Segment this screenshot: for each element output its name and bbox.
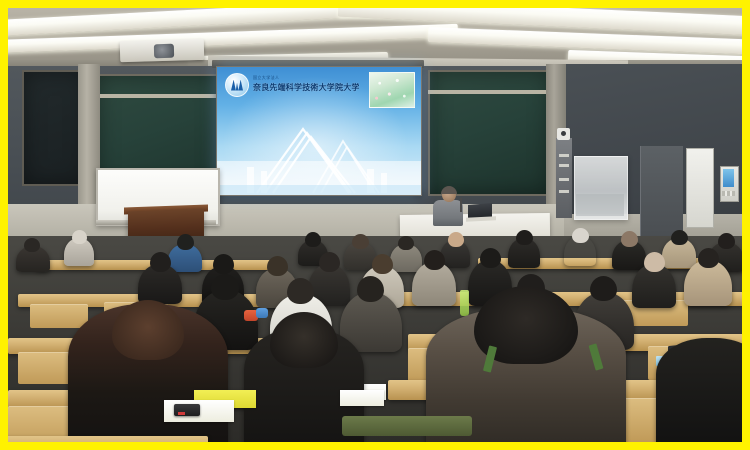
desk-microphone (460, 198, 462, 212)
attendee-back-10-head (621, 231, 638, 247)
seated-presenter-body (433, 200, 463, 226)
attendee-upper-2-head (213, 254, 234, 274)
attendee-middle-5-head (590, 276, 617, 301)
flower-dots (370, 73, 414, 107)
attendee-middle-2-head (287, 278, 314, 304)
attendee-upper-1-head (150, 252, 171, 272)
chair-back-olive (342, 416, 472, 436)
desk-panel-u1 (30, 304, 88, 328)
attendee-upper-8-head (698, 248, 719, 268)
attendee-back-12-head (718, 233, 735, 249)
campus-gate-arches-graphic (217, 115, 421, 195)
control-panel-screen (723, 169, 734, 187)
rack-control-3 (559, 178, 569, 181)
attendee-upper-4-head (319, 252, 340, 272)
rack-control-2 (559, 164, 569, 167)
attendee-upper-7-head (480, 248, 501, 268)
attendee-front-far-right (656, 338, 742, 442)
slide-organization-prefix: 国立大学法人 (253, 75, 279, 81)
attendee-back-4-head (305, 232, 321, 247)
naist-logo (225, 73, 249, 97)
blue-pouch (256, 308, 268, 318)
projector-lens-icon (154, 44, 174, 59)
attendee-back-3-head (177, 234, 194, 250)
camera-lens-icon (561, 131, 566, 136)
attendee-back-9-head (572, 228, 589, 243)
water-bottle (460, 290, 469, 316)
dust-cover-shadow (576, 194, 624, 216)
desk-row-front-left (8, 436, 208, 442)
white-handout-5 (340, 390, 384, 406)
wall-door-panel (640, 146, 683, 238)
rack-control-1 (559, 154, 569, 157)
attendee-upper-5-head (372, 254, 393, 274)
attendee-back-11-head (671, 230, 688, 245)
attendee-back-1-head (72, 230, 87, 244)
campus-flowers-photo (369, 72, 415, 108)
attendee-back-7-head (448, 232, 464, 247)
chalkboard-right (428, 70, 552, 196)
smartphone-indicator (178, 412, 185, 415)
chalkboard-right-rail (428, 90, 548, 94)
chalkboard-center-rail (96, 94, 216, 98)
attendee-back-6-head (398, 236, 414, 250)
attendee-middle-1-head (211, 274, 239, 300)
attendee-upper-9-head (644, 252, 665, 272)
attendee-middle-3-head (357, 276, 384, 302)
rack-control-4 (559, 190, 569, 193)
attendee-upper-6-head (424, 250, 445, 270)
slide-organization-name: 奈良先端科学技術大学院大学 (253, 82, 360, 93)
naist-logo-mark (231, 80, 243, 91)
attendee-back-5-head (352, 234, 369, 249)
control-panel-buttons (722, 191, 735, 196)
white-cabinet (686, 148, 714, 228)
attendee-back-2-head (24, 238, 40, 252)
lecture-hall-scene: 国立大学法人 奈良先端科学技術大学院大学 (8, 8, 742, 442)
attendee-upper-3-head (267, 256, 288, 276)
projection-screen: 国立大学法人 奈良先端科学技術大学院大学 (216, 66, 422, 196)
photo-frame: 国立大学法人 奈良先端科学技術大学院大学 (0, 0, 750, 450)
smartphone (174, 404, 200, 416)
attendee-back-8-head (516, 230, 533, 245)
